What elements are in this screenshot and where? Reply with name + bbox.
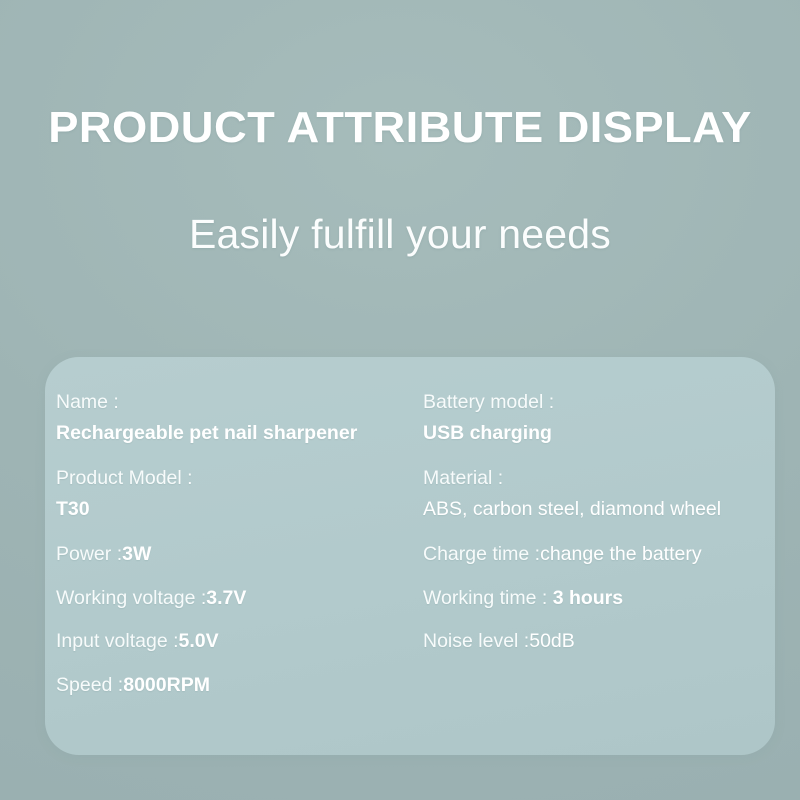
spec-label: Working time : bbox=[423, 587, 553, 609]
spec-row: Material :ABS, carbon steel, diamond whe… bbox=[423, 469, 768, 519]
spec-row: Working voltage :3.7V bbox=[56, 589, 436, 609]
spec-label: Input voltage : bbox=[56, 630, 179, 652]
spec-row: Battery model :USB charging bbox=[423, 393, 768, 443]
spec-label: Working voltage : bbox=[56, 587, 206, 609]
spec-row: Speed :8000RPM bbox=[56, 676, 436, 696]
spec-label: Material : bbox=[423, 469, 768, 489]
spec-value: 3W bbox=[122, 543, 151, 565]
page-subtitle: Easily fulfill your needs bbox=[0, 211, 800, 258]
spec-row: Charge time :change the battery bbox=[423, 545, 768, 565]
spec-label: Power : bbox=[56, 543, 122, 565]
product-attribute-poster: PRODUCT ATTRIBUTE DISPLAY Easily fulfill… bbox=[0, 0, 800, 800]
spec-column-right: Battery model :USB chargingMaterial :ABS… bbox=[423, 393, 768, 652]
page-title: PRODUCT ATTRIBUTE DISPLAY bbox=[0, 104, 800, 152]
spec-row: Input voltage :5.0V bbox=[56, 632, 436, 652]
spec-value: USB charging bbox=[423, 424, 768, 444]
spec-label: Noise level : bbox=[423, 630, 529, 652]
spec-value: 8000RPM bbox=[123, 674, 210, 696]
spec-row: Product Model :T30 bbox=[56, 469, 436, 519]
spec-label: Charge time : bbox=[423, 543, 540, 565]
spec-value: ABS, carbon steel, diamond wheel bbox=[423, 500, 768, 520]
spec-row: Noise level :50dB bbox=[423, 632, 768, 652]
spec-row: Name :Rechargeable pet nail sharpener bbox=[56, 393, 436, 443]
spec-row: Working time : 3 hours bbox=[423, 589, 768, 609]
spec-value: Rechargeable pet nail sharpener bbox=[56, 424, 436, 444]
spec-value: 5.0V bbox=[179, 630, 219, 652]
spec-value: change the battery bbox=[540, 543, 702, 565]
spec-value: 50dB bbox=[529, 630, 575, 652]
spec-label: Speed : bbox=[56, 674, 123, 696]
spec-row: Power :3W bbox=[56, 545, 436, 565]
spec-label: Battery model : bbox=[423, 393, 768, 413]
spec-label: Product Model : bbox=[56, 469, 436, 489]
specification-card: Name :Rechargeable pet nail sharpenerPro… bbox=[45, 357, 775, 755]
spec-value: 3 hours bbox=[553, 587, 623, 609]
spec-value: T30 bbox=[56, 500, 436, 520]
spec-column-left: Name :Rechargeable pet nail sharpenerPro… bbox=[56, 393, 436, 695]
spec-label: Name : bbox=[56, 393, 436, 413]
spec-value: 3.7V bbox=[206, 587, 246, 609]
